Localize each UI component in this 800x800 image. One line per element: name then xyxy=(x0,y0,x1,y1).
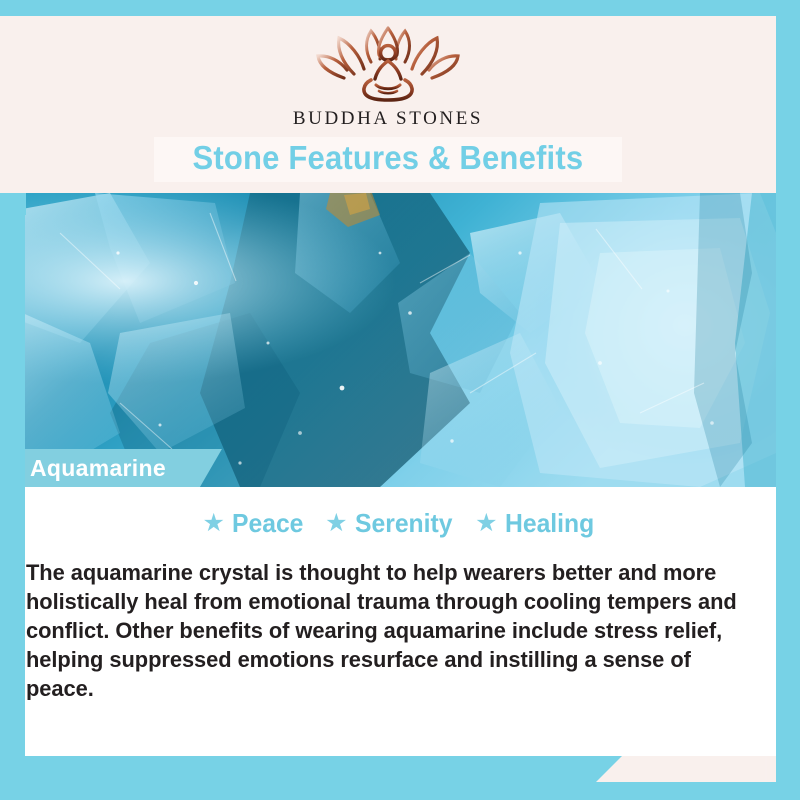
keyword-label: Serenity xyxy=(355,508,452,539)
aquamarine-crystal-cluster-photo xyxy=(0,193,776,487)
keyword-item: ★ Serenity xyxy=(325,508,457,539)
stone-name-banner: Aquamarine xyxy=(0,449,222,487)
hero-image: Aquamarine xyxy=(0,193,776,487)
lower-plate xyxy=(25,700,776,756)
star-icon: ★ xyxy=(203,511,225,536)
title-plate: Stone Features & Benefits xyxy=(154,137,622,182)
keyword-item: ★ Peace xyxy=(203,508,308,539)
top-border-band xyxy=(0,0,800,16)
brand-name: BUDDHA STONES xyxy=(293,108,483,130)
card-header: BUDDHA STONES Stone Features & Benefits xyxy=(0,16,776,193)
left-border-band xyxy=(0,204,25,800)
lotus-meditation-figure-icon xyxy=(313,22,463,106)
star-icon: ★ xyxy=(475,511,497,536)
right-border-band xyxy=(776,0,800,800)
bottom-border-band xyxy=(0,782,800,800)
keyword-item: ★ Healing xyxy=(475,508,598,539)
bottom-accent-bar xyxy=(0,756,622,782)
stone-name-label: Aquamarine xyxy=(30,455,166,482)
keyword-row: ★ Peace ★ Serenity ★ Healing xyxy=(25,508,776,539)
keyword-label: Healing xyxy=(505,508,594,539)
infographic-card: BUDDHA STONES Stone Features & Benefits xyxy=(0,0,800,800)
keyword-label: Peace xyxy=(232,508,303,539)
star-icon: ★ xyxy=(325,511,347,536)
brand-logo-block: BUDDHA STONES xyxy=(293,22,483,130)
body-paragraph: The aquamarine crystal is thought to hel… xyxy=(26,558,743,703)
page-title: Stone Features & Benefits xyxy=(193,139,584,177)
